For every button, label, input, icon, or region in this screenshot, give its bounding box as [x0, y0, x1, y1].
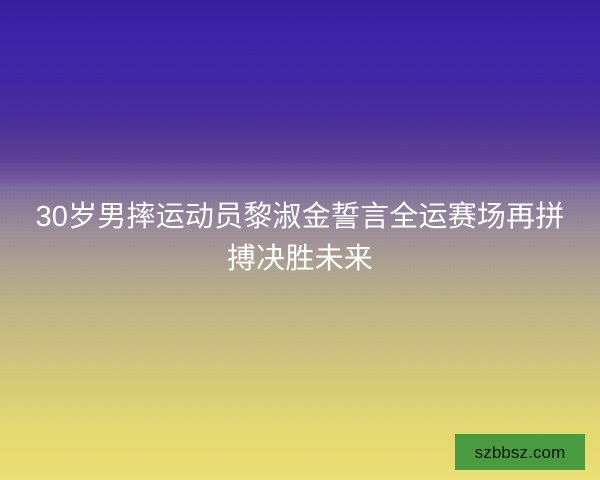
watermark-badge: szbbsz.com — [455, 434, 585, 470]
headline-text: 30岁男摔运动员黎淑金誓言全运赛场再拼搏决胜未来 — [0, 196, 600, 280]
watermark-label: szbbsz.com — [475, 444, 566, 461]
image-canvas: 30岁男摔运动员黎淑金誓言全运赛场再拼搏决胜未来 szbbsz.com — [0, 0, 600, 480]
